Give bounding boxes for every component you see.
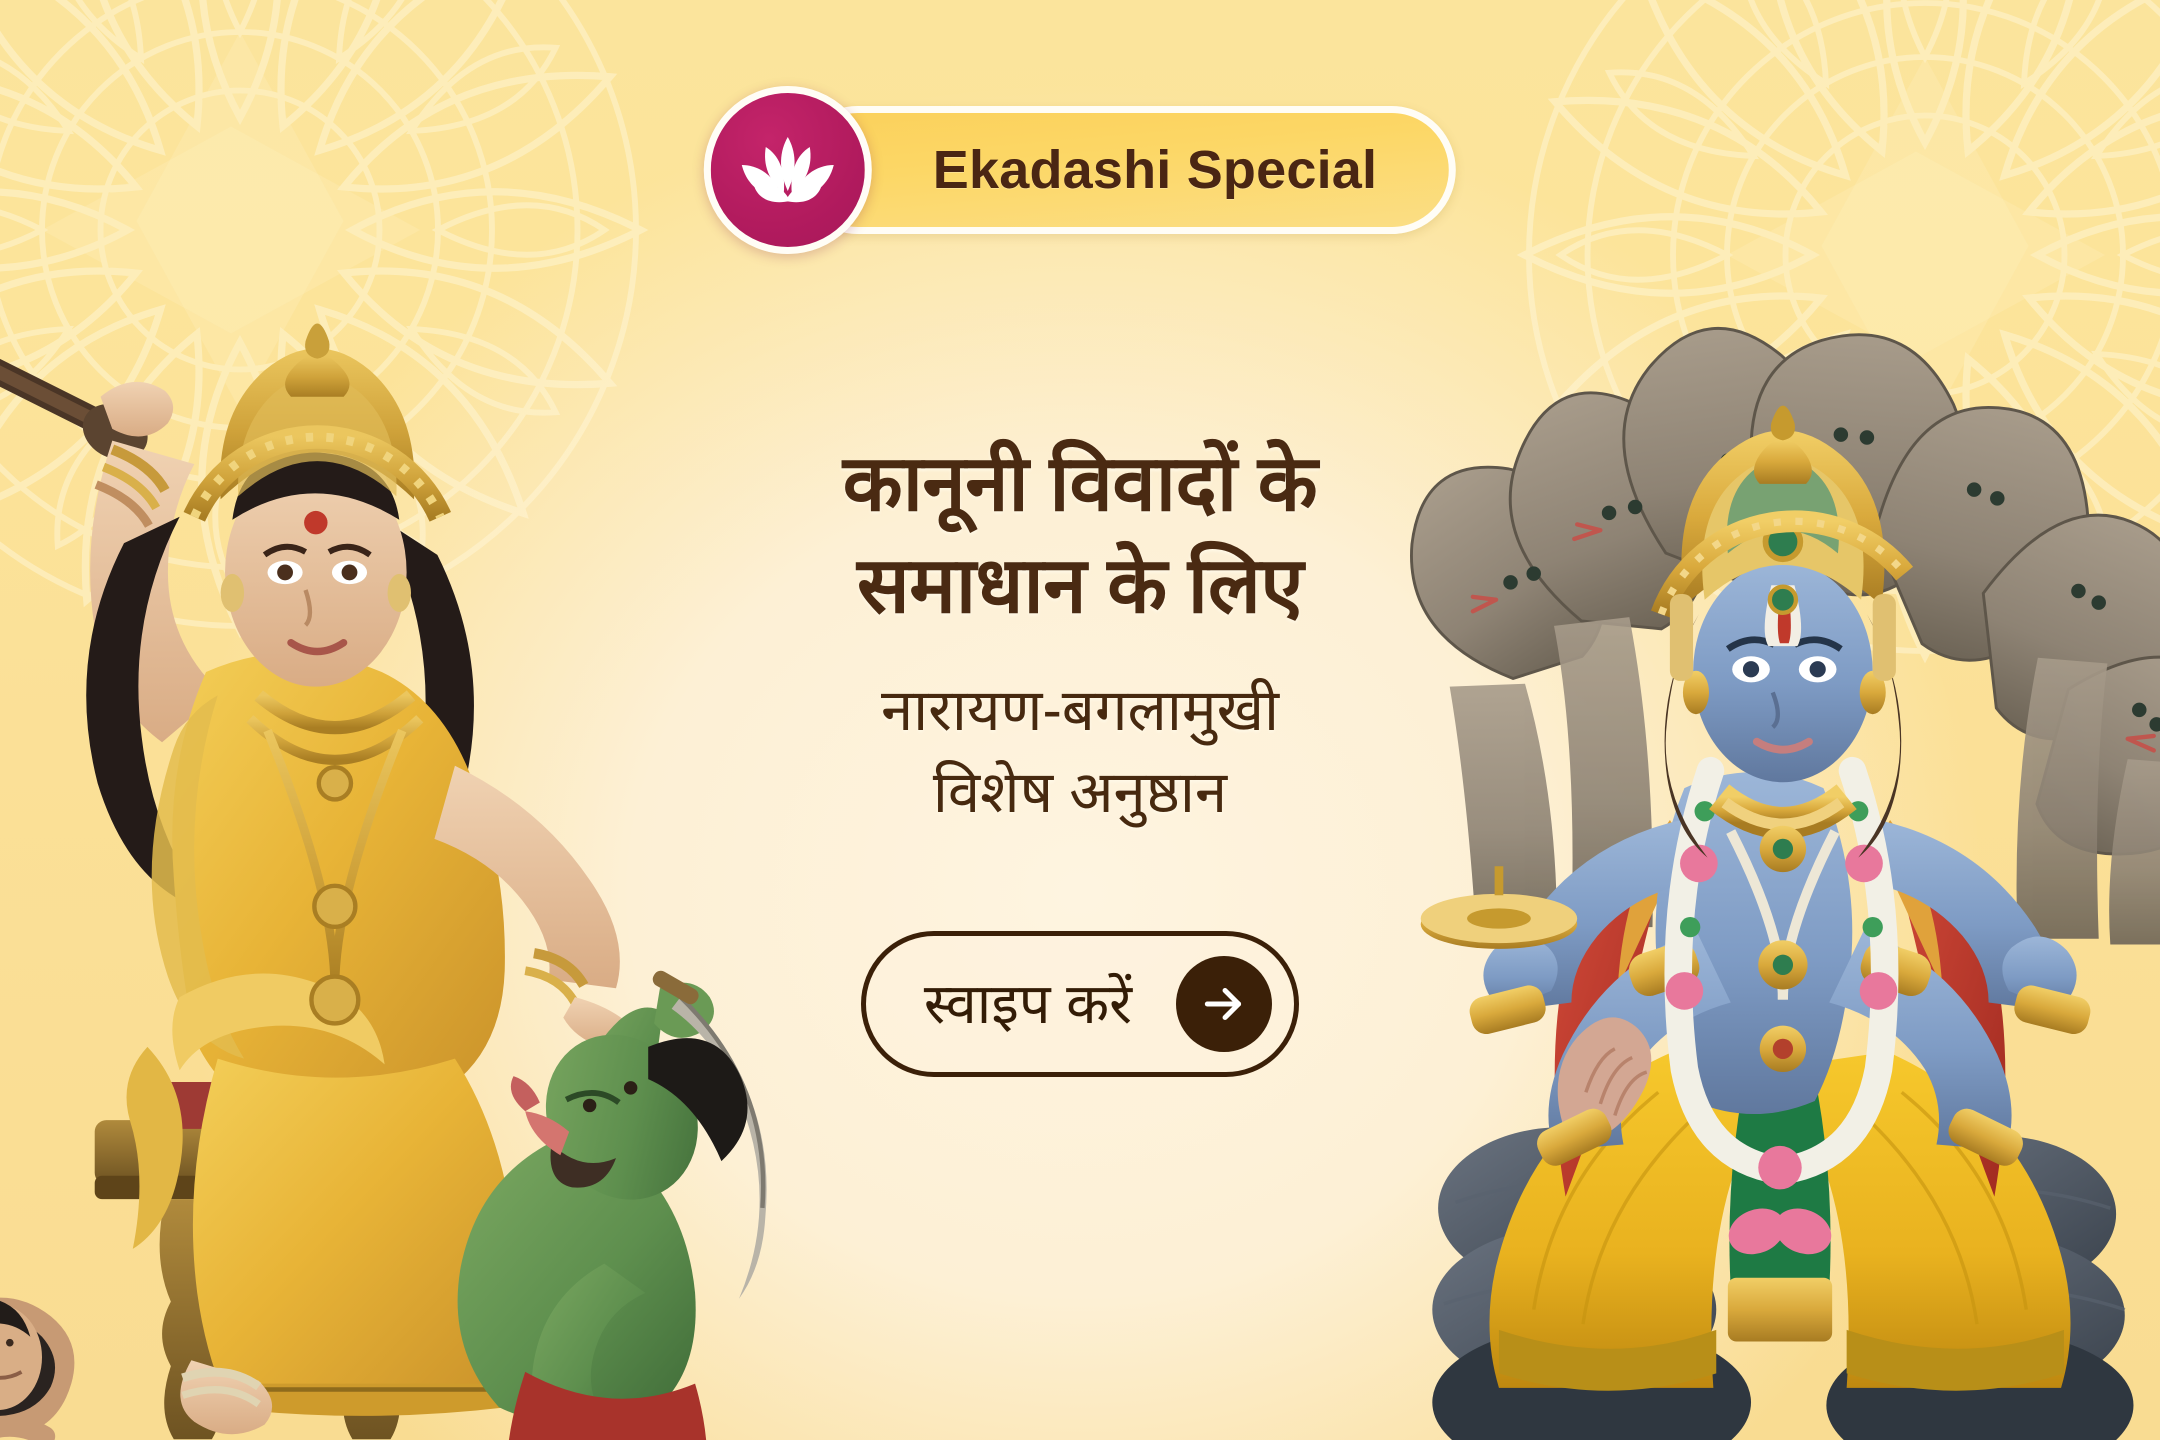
ekadashi-special-banner: Ekadashi Special कानूनी विवादों के समाधा… [0, 0, 2160, 1440]
fallen-figure [0, 1298, 74, 1440]
subheadline-line-1: नारायण-बगलामुखी [881, 670, 1279, 752]
lotus-icon [736, 131, 840, 209]
badge-pill: Ekadashi Special [794, 106, 1456, 234]
swipe-cta-label: स्वाइप करें [924, 969, 1132, 1039]
goddess-face [221, 452, 411, 686]
ekadashi-special-badge: Ekadashi Special [704, 86, 1456, 254]
goddess-baglamukhi-illustration [0, 150, 780, 1440]
arrow-right-icon[interactable] [1176, 956, 1272, 1052]
subheadline: नारायण-बगलामुखी विशेष अनुष्ठान [881, 670, 1279, 835]
mace [0, 269, 157, 470]
headline-line-1: कानूनी विवादों के [843, 433, 1317, 534]
headline-line-2: समाधान के लिए [843, 535, 1317, 636]
badge-label: Ekadashi Special [933, 139, 1377, 201]
lotus-badge-circle [704, 86, 872, 254]
subheadline-line-2: विशेष अनुष्ठान [881, 752, 1279, 834]
swipe-cta-button[interactable]: स्वाइप करें [861, 931, 1299, 1077]
headline: कानूनी विवादों के समाधान के लिए [843, 433, 1317, 636]
